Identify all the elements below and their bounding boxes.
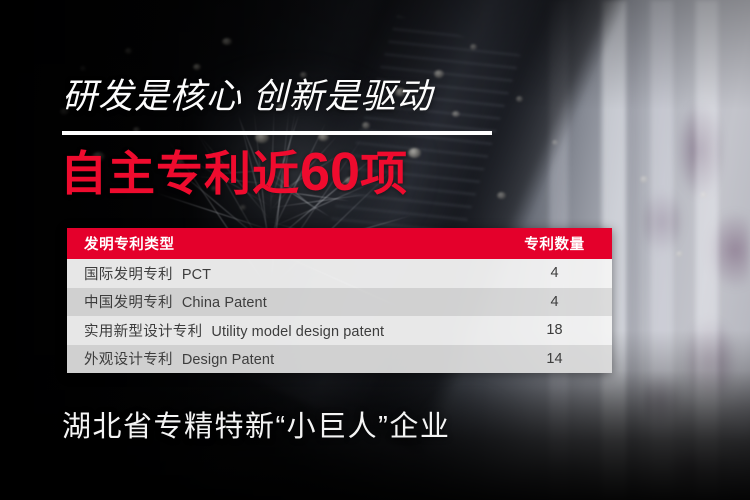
table-row: 外观设计专利Design Patent14 — [67, 345, 612, 374]
column-header-type: 发明专利类型 — [67, 228, 497, 259]
patent-type-en: PCT — [182, 267, 211, 283]
patent-type-en: Utility model design patent — [211, 324, 384, 340]
patent-type-cn: 国际发明专利 — [84, 267, 173, 283]
table-row: 中国发明专利China Patent4 — [67, 288, 612, 317]
subheadline-suffix: 项 — [360, 147, 408, 200]
poster-content: 研发是核心 创新是驱动 自主专利近60项 发明专利类型 专利数量 国际发明专利P… — [0, 0, 750, 500]
cell-patent-type: 实用新型设计专利Utility model design patent — [67, 316, 497, 345]
cell-patent-count: 14 — [497, 345, 612, 374]
patent-count-number: 60 — [300, 142, 360, 202]
cell-patent-type: 中国发明专利China Patent — [67, 288, 497, 317]
patent-type-en: China Patent — [182, 295, 267, 311]
patent-type-cn: 中国发明专利 — [84, 295, 173, 311]
cell-patent-type: 国际发明专利PCT — [67, 259, 497, 288]
patent-table-body: 国际发明专利PCT4中国发明专利China Patent4实用新型设计专利Uti… — [67, 259, 612, 373]
table-row: 实用新型设计专利Utility model design patent18 — [67, 316, 612, 345]
patent-type-en: Design Patent — [182, 352, 274, 368]
subheadline-text: 自主专利近60项 — [60, 143, 408, 202]
footer-text: 湖北省专精特新“小巨人”企业 — [62, 403, 450, 445]
poster-canvas: 研发是核心 创新是驱动 自主专利近60项 发明专利类型 专利数量 国际发明专利P… — [0, 0, 750, 500]
patent-table: 发明专利类型 专利数量 国际发明专利PCT4中国发明专利China Patent… — [67, 228, 612, 373]
table-row: 国际发明专利PCT4 — [67, 259, 612, 288]
cell-patent-type: 外观设计专利Design Patent — [67, 345, 497, 374]
headline-text: 研发是核心 创新是驱动 — [62, 79, 433, 116]
column-header-count: 专利数量 — [497, 228, 612, 259]
cell-patent-count: 4 — [497, 288, 612, 317]
table-header-row: 发明专利类型 专利数量 — [67, 228, 612, 259]
patent-type-cn: 实用新型设计专利 — [84, 324, 202, 340]
subheadline-prefix: 自主专利近 — [60, 147, 300, 200]
headline-divider-rule — [62, 131, 492, 135]
cell-patent-count: 4 — [497, 259, 612, 288]
patent-type-cn: 外观设计专利 — [84, 352, 173, 368]
cell-patent-count: 18 — [497, 316, 612, 345]
patent-table-header: 发明专利类型 专利数量 — [67, 228, 612, 259]
